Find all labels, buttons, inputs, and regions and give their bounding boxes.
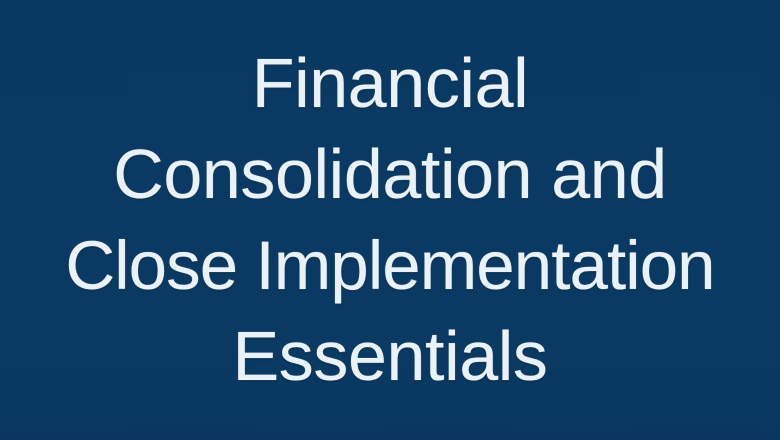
title-line-4: Essentials [0,311,780,402]
title-line-3: Close Implementation [0,220,780,311]
title-line-2: Consolidation and [0,129,780,220]
slide-title-block: Financial Consolidation and Close Implem… [0,0,780,440]
title-line-1: Financial [0,38,780,129]
title-slide: Financial Consolidation and Close Implem… [0,0,780,440]
